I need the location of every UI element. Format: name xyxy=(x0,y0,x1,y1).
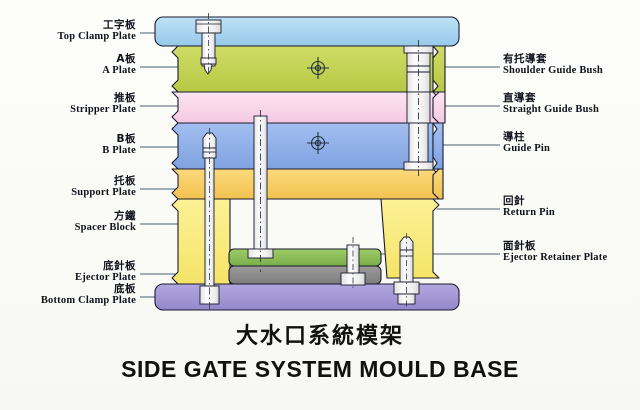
label-spacer-block: 方鐵 Spacer Block xyxy=(0,211,136,233)
label-support-plate-cn: 托板 xyxy=(0,176,136,187)
shoulder-guide-bush-flange xyxy=(404,46,433,53)
label-ejector-retainer-plate: 面針板 Ejector Retainer Plate xyxy=(503,241,640,263)
stripper-plate-right-edge xyxy=(433,92,445,123)
label-shoulder-guide-bush: 有托導套 Shoulder Guide Bush xyxy=(503,54,640,76)
label-support-plate-en: Support Plate xyxy=(0,187,136,198)
label-bottom-clamp-plate-cn: 底板 xyxy=(0,284,136,295)
label-top-clamp-plate-en: Top Clamp Plate xyxy=(0,31,136,42)
label-b-plate-en: B Plate xyxy=(0,145,136,156)
label-top-clamp-plate-cn: 工字板 xyxy=(0,20,136,31)
label-shoulder-guide-bush-cn: 有托導套 xyxy=(503,54,640,65)
label-return-pin: 回針 Return Pin xyxy=(503,196,640,218)
label-bottom-clamp-plate: 底板 Bottom Clamp Plate xyxy=(0,284,136,306)
label-return-pin-en: Return Pin xyxy=(503,207,640,218)
label-guide-pin-en: Guide Pin xyxy=(503,143,640,154)
label-return-pin-cn: 回針 xyxy=(503,196,640,207)
label-support-plate: 托板 Support Plate xyxy=(0,176,136,198)
diagram-title: 大水口系統模架 SIDE GATE SYSTEM MOULD BASE xyxy=(0,318,640,383)
label-top-clamp-plate: 工字板 Top Clamp Plate xyxy=(0,20,136,42)
label-ejector-plate-en: Ejector Plate xyxy=(0,272,136,283)
label-guide-pin-cn: 導柱 xyxy=(503,132,640,143)
label-spacer-block-cn: 方鐵 xyxy=(0,211,136,222)
diagram-title-english: SIDE GATE SYSTEM MOULD BASE xyxy=(0,356,640,383)
label-stripper-plate-cn: 推板 xyxy=(0,93,136,104)
label-ejector-retainer-plate-en: Ejector Retainer Plate xyxy=(503,252,640,263)
diagram-title-chinese: 大水口系統模架 xyxy=(0,318,640,350)
spacer-block-left xyxy=(172,199,230,284)
label-ejector-plate: 底針板 Ejector Plate xyxy=(0,261,136,283)
label-straight-guide-bush: 直導套 Straight Guide Bush xyxy=(503,93,640,115)
label-ejector-retainer-plate-cn: 面針板 xyxy=(503,241,640,252)
label-stripper-plate-en: Stripper Plate xyxy=(0,104,136,115)
label-b-plate: B板 B Plate xyxy=(0,134,136,156)
plate-stripper-plate xyxy=(172,92,439,123)
label-straight-guide-bush-cn: 直導套 xyxy=(503,93,640,104)
mould-base-diagram: 工字板 Top Clamp Plate A板 A Plate 推板 Stripp… xyxy=(0,0,640,410)
label-stripper-plate: 推板 Stripper Plate xyxy=(0,93,136,115)
support-plate-right-edge xyxy=(433,169,443,199)
label-a-plate: A板 A Plate xyxy=(0,54,136,76)
label-guide-pin: 導柱 Guide Pin xyxy=(503,132,640,154)
label-straight-guide-bush-en: Straight Guide Bush xyxy=(503,104,640,115)
label-b-plate-cn: B板 xyxy=(0,134,136,145)
label-spacer-block-en: Spacer Block xyxy=(0,222,136,233)
label-ejector-plate-cn: 底針板 xyxy=(0,261,136,272)
label-shoulder-guide-bush-en: Shoulder Guide Bush xyxy=(503,65,640,76)
label-a-plate-en: A Plate xyxy=(0,65,136,76)
label-a-plate-cn: A板 xyxy=(0,54,136,65)
label-bottom-clamp-plate-en: Bottom Clamp Plate xyxy=(0,295,136,306)
